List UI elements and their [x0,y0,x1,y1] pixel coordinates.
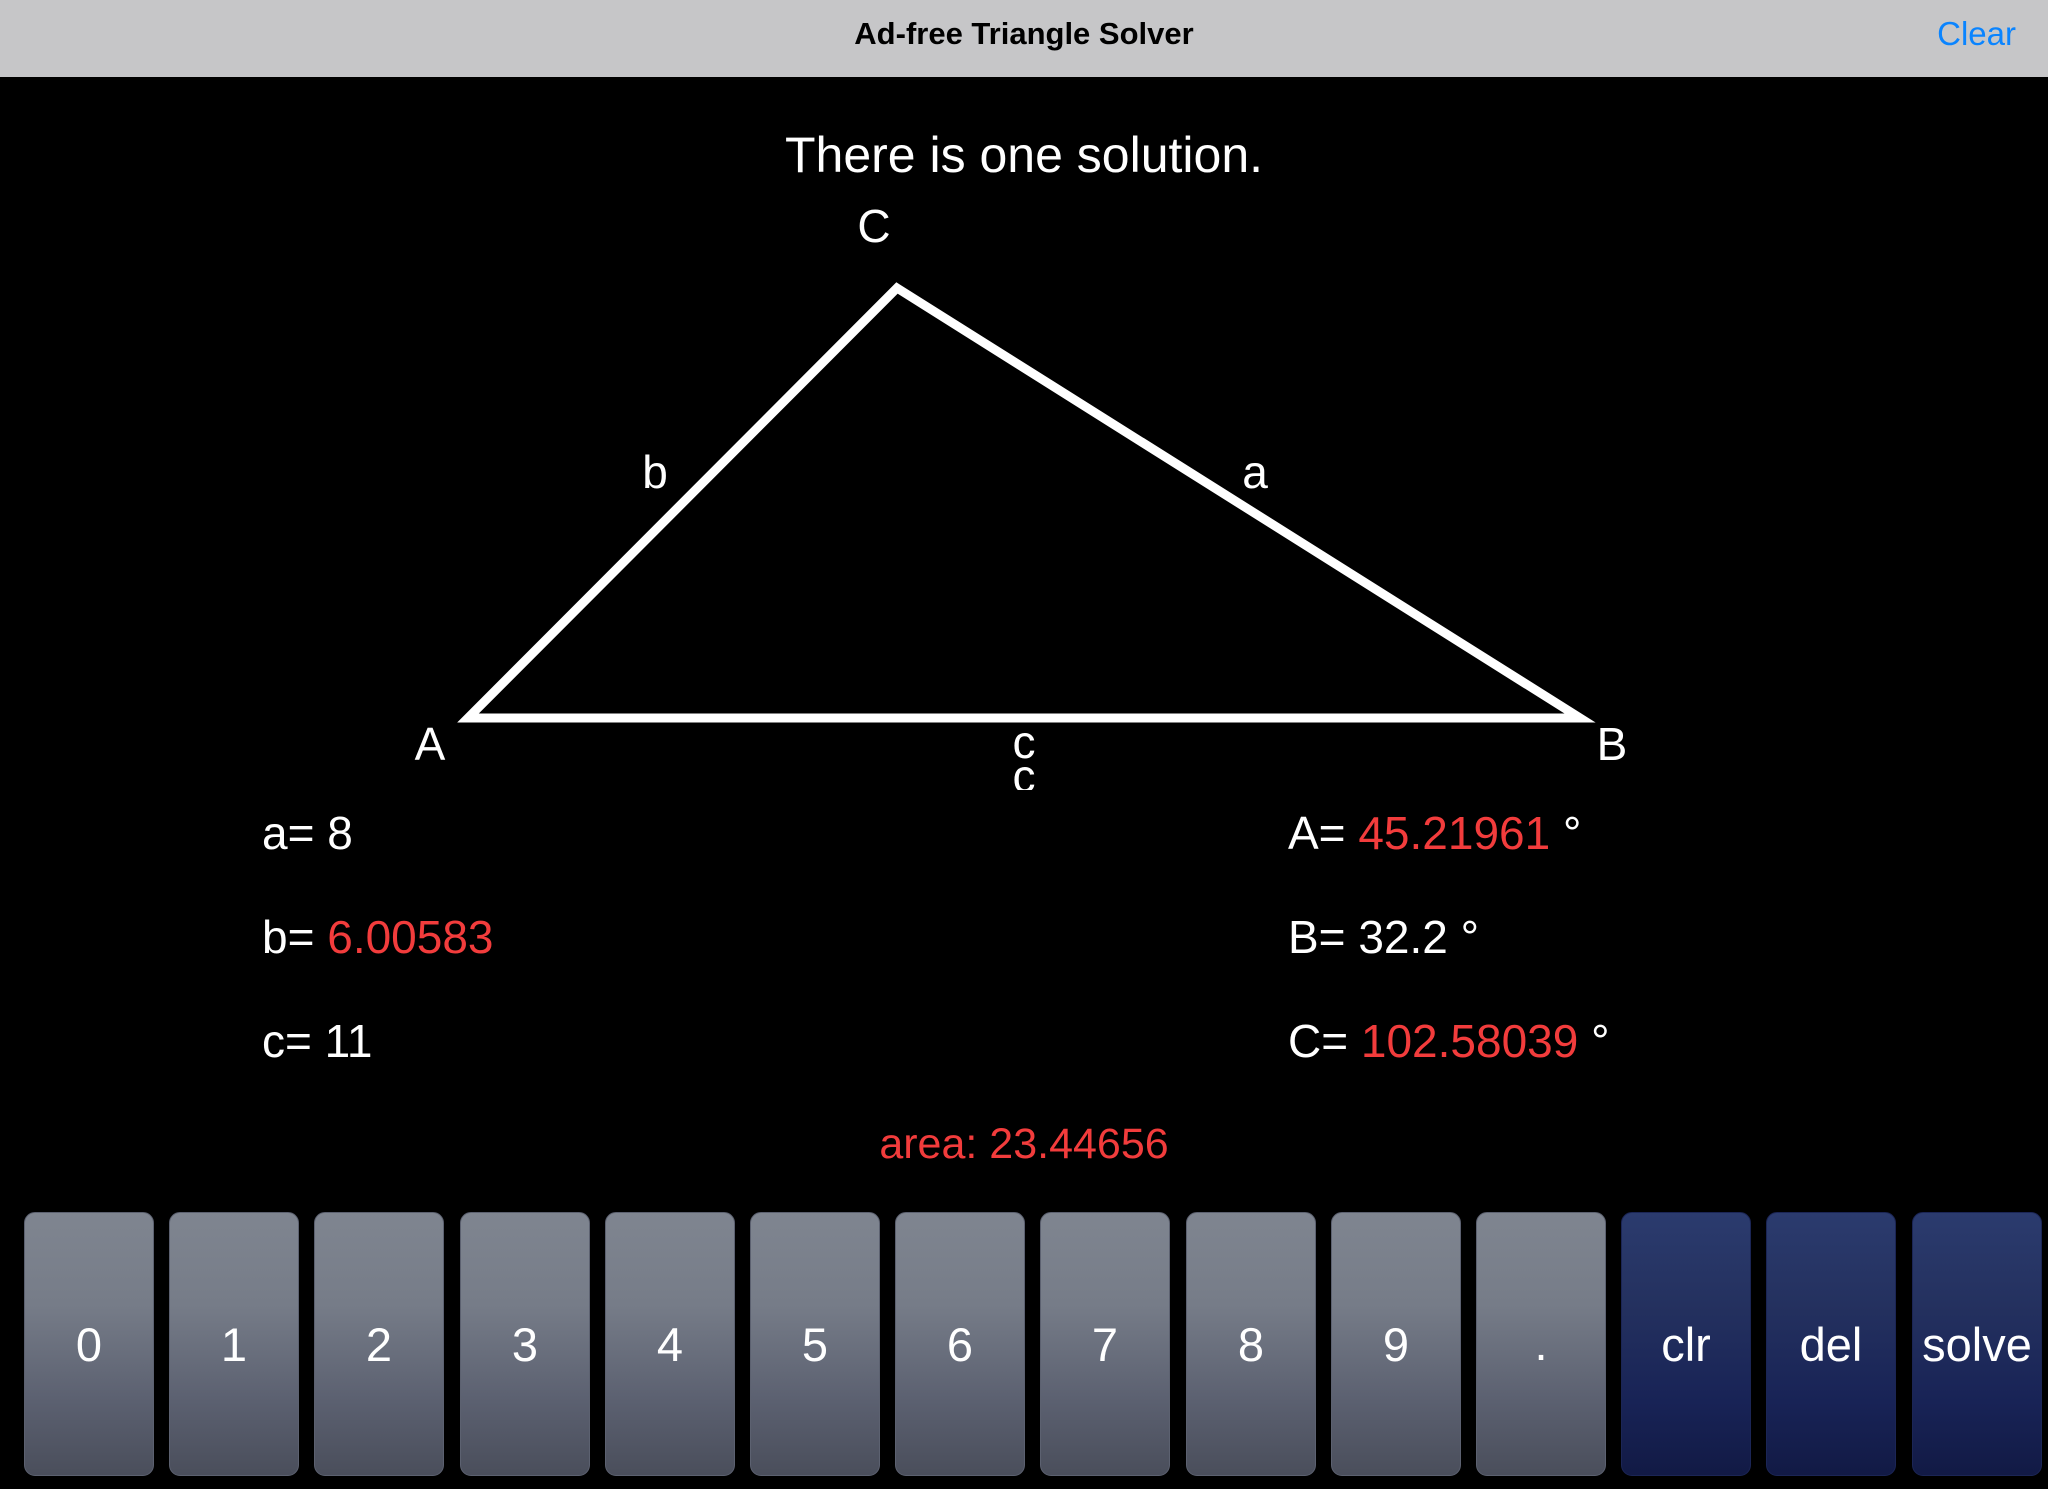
key-decimal[interactable]: . [1476,1212,1606,1476]
triangle-diagram: C A B b a c c [0,170,2048,790]
values-panel: a= 8 b= 6.00583 c= 11 A= 45.21961 ° B= 3… [0,800,2048,1070]
key-label: 4 [657,1317,683,1372]
side-c-key: c= [262,1015,312,1067]
key-1[interactable]: 1 [169,1212,299,1476]
value-row-side-b: b= 6.00583 [262,910,494,964]
key-label: 5 [802,1317,828,1372]
key-label: 3 [512,1317,538,1372]
angle-a-value[interactable]: 45.21961 [1358,807,1550,859]
key-label: 7 [1092,1317,1118,1372]
area-readout: area: 23.44656 [0,1120,2048,1169]
value-row-angle-c: C= 102.58039 ° [1288,1014,1610,1068]
side-b-value[interactable]: 6.00583 [327,911,493,963]
angle-b-value[interactable]: 32.2 [1358,911,1448,963]
key-label: del [1800,1317,1863,1372]
key-label: 0 [76,1317,102,1372]
value-row-side-a: a= 8 [262,806,353,860]
page-title: Ad-free Triangle Solver [0,16,2048,52]
key-del[interactable]: del [1766,1212,1896,1476]
title-bar: Ad-free Triangle Solver Clear [0,0,2048,77]
angle-a-key: A= [1288,807,1346,859]
side-c-value[interactable]: 11 [325,1015,373,1067]
key-clr[interactable]: clr [1621,1212,1751,1476]
keypad: 0123456789.clrdelsolve [0,1212,2048,1477]
clear-button[interactable]: Clear [1937,15,2016,53]
key-4[interactable]: 4 [605,1212,735,1476]
key-8[interactable]: 8 [1186,1212,1316,1476]
key-label: 1 [221,1317,247,1372]
angle-a-unit: ° [1563,807,1581,859]
side-b-key: b= [262,911,314,963]
angle-b-key: B= [1288,911,1346,963]
key-0[interactable]: 0 [24,1212,154,1476]
area-label: area: [879,1120,977,1168]
key-label: . [1534,1335,1547,1354]
key-label: 9 [1383,1317,1409,1372]
angle-c-value[interactable]: 102.58039 [1361,1015,1578,1067]
value-row-angle-a: A= 45.21961 ° [1288,806,1581,860]
value-row-angle-b: B= 32.2 ° [1288,910,1479,964]
key-3[interactable]: 3 [460,1212,590,1476]
key-label: 2 [366,1317,392,1372]
side-label-c-visible: c [1013,716,1036,768]
key-label: clr [1661,1317,1711,1372]
angle-c-unit: ° [1591,1015,1609,1067]
app-root: Ad-free Triangle Solver Clear There is o… [0,0,2048,1489]
angle-b-unit: ° [1461,911,1479,963]
key-5[interactable]: 5 [750,1212,880,1476]
triangle-side-c-label-layer: c [0,170,2048,790]
angle-c-key: C= [1288,1015,1348,1067]
key-6[interactable]: 6 [895,1212,1025,1476]
key-solve[interactable]: solve [1912,1212,2042,1476]
key-label: 8 [1238,1317,1264,1372]
side-a-key: a= [262,807,314,859]
key-label: 6 [947,1317,973,1372]
key-7[interactable]: 7 [1040,1212,1170,1476]
key-2[interactable]: 2 [314,1212,444,1476]
key-9[interactable]: 9 [1331,1212,1461,1476]
key-label: solve [1922,1317,2032,1372]
side-a-value[interactable]: 8 [327,807,353,859]
value-row-side-c: c= 11 [262,1014,372,1068]
area-value: 23.44656 [989,1120,1168,1168]
